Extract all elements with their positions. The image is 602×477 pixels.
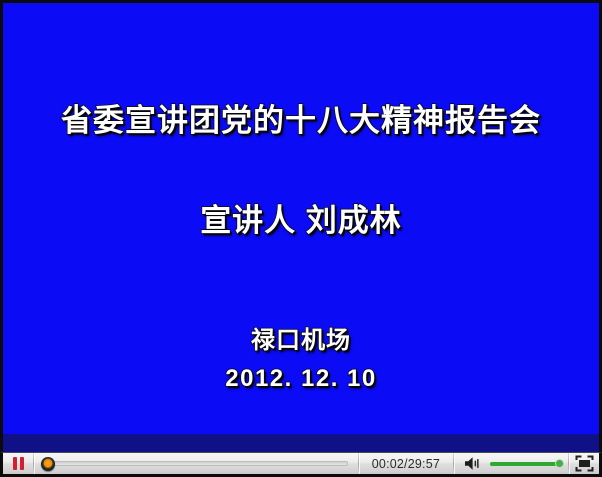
pause-icon [13,457,24,470]
video-display-area[interactable]: 省委宣讲团党的十八大精神报告会 宣讲人 刘成林 禄口机场 2012. 12. 1… [0,0,602,452]
video-player: 省委宣讲团党的十八大精神报告会 宣讲人 刘成林 禄口机场 2012. 12. 1… [0,0,602,477]
presentation-slide: 省委宣讲团党的十八大精神报告会 宣讲人 刘成林 禄口机场 2012. 12. 1… [3,3,599,437]
volume-slider-fill [490,462,560,466]
pause-button[interactable] [3,453,33,474]
progress-handle[interactable] [41,457,55,471]
player-control-bar: 00:02/29:57 [0,452,602,477]
slide-date: 2012. 12. 10 [3,365,599,393]
slide-title: 省委宣讲团党的十八大精神报告会 [3,95,599,140]
speaker-icon[interactable] [464,456,484,471]
letterbox-band [3,434,599,452]
volume-control[interactable] [454,453,568,474]
volume-slider-track[interactable] [490,462,560,466]
slide-location: 禄口机场 [3,320,599,355]
fullscreen-icon [575,455,594,472]
volume-slider-handle[interactable] [555,459,564,468]
fullscreen-button[interactable] [569,453,599,474]
slide-speaker: 宣讲人 刘成林 [3,195,599,240]
progress-bar[interactable] [34,453,358,474]
progress-track[interactable] [44,461,348,466]
time-display: 00:02/29:57 [359,453,453,474]
